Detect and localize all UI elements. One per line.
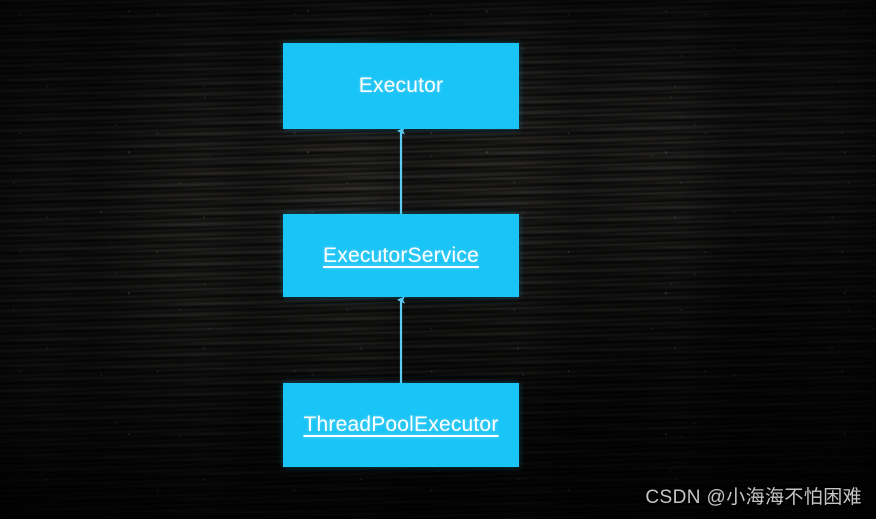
node-threadpoolexecutor-label: ThreadPoolExecutor [303,413,498,437]
diagram-canvas: Executor ExecutorService ThreadPoolExecu… [0,0,876,519]
node-executor-label: Executor [359,74,443,98]
node-executor[interactable]: Executor [283,43,519,129]
node-threadpoolexecutor[interactable]: ThreadPoolExecutor [283,383,519,467]
node-executorservice-label: ExecutorService [323,244,479,268]
node-executorservice[interactable]: ExecutorService [283,214,519,297]
csdn-watermark: CSDN @小海海不怕困难 [645,482,862,509]
